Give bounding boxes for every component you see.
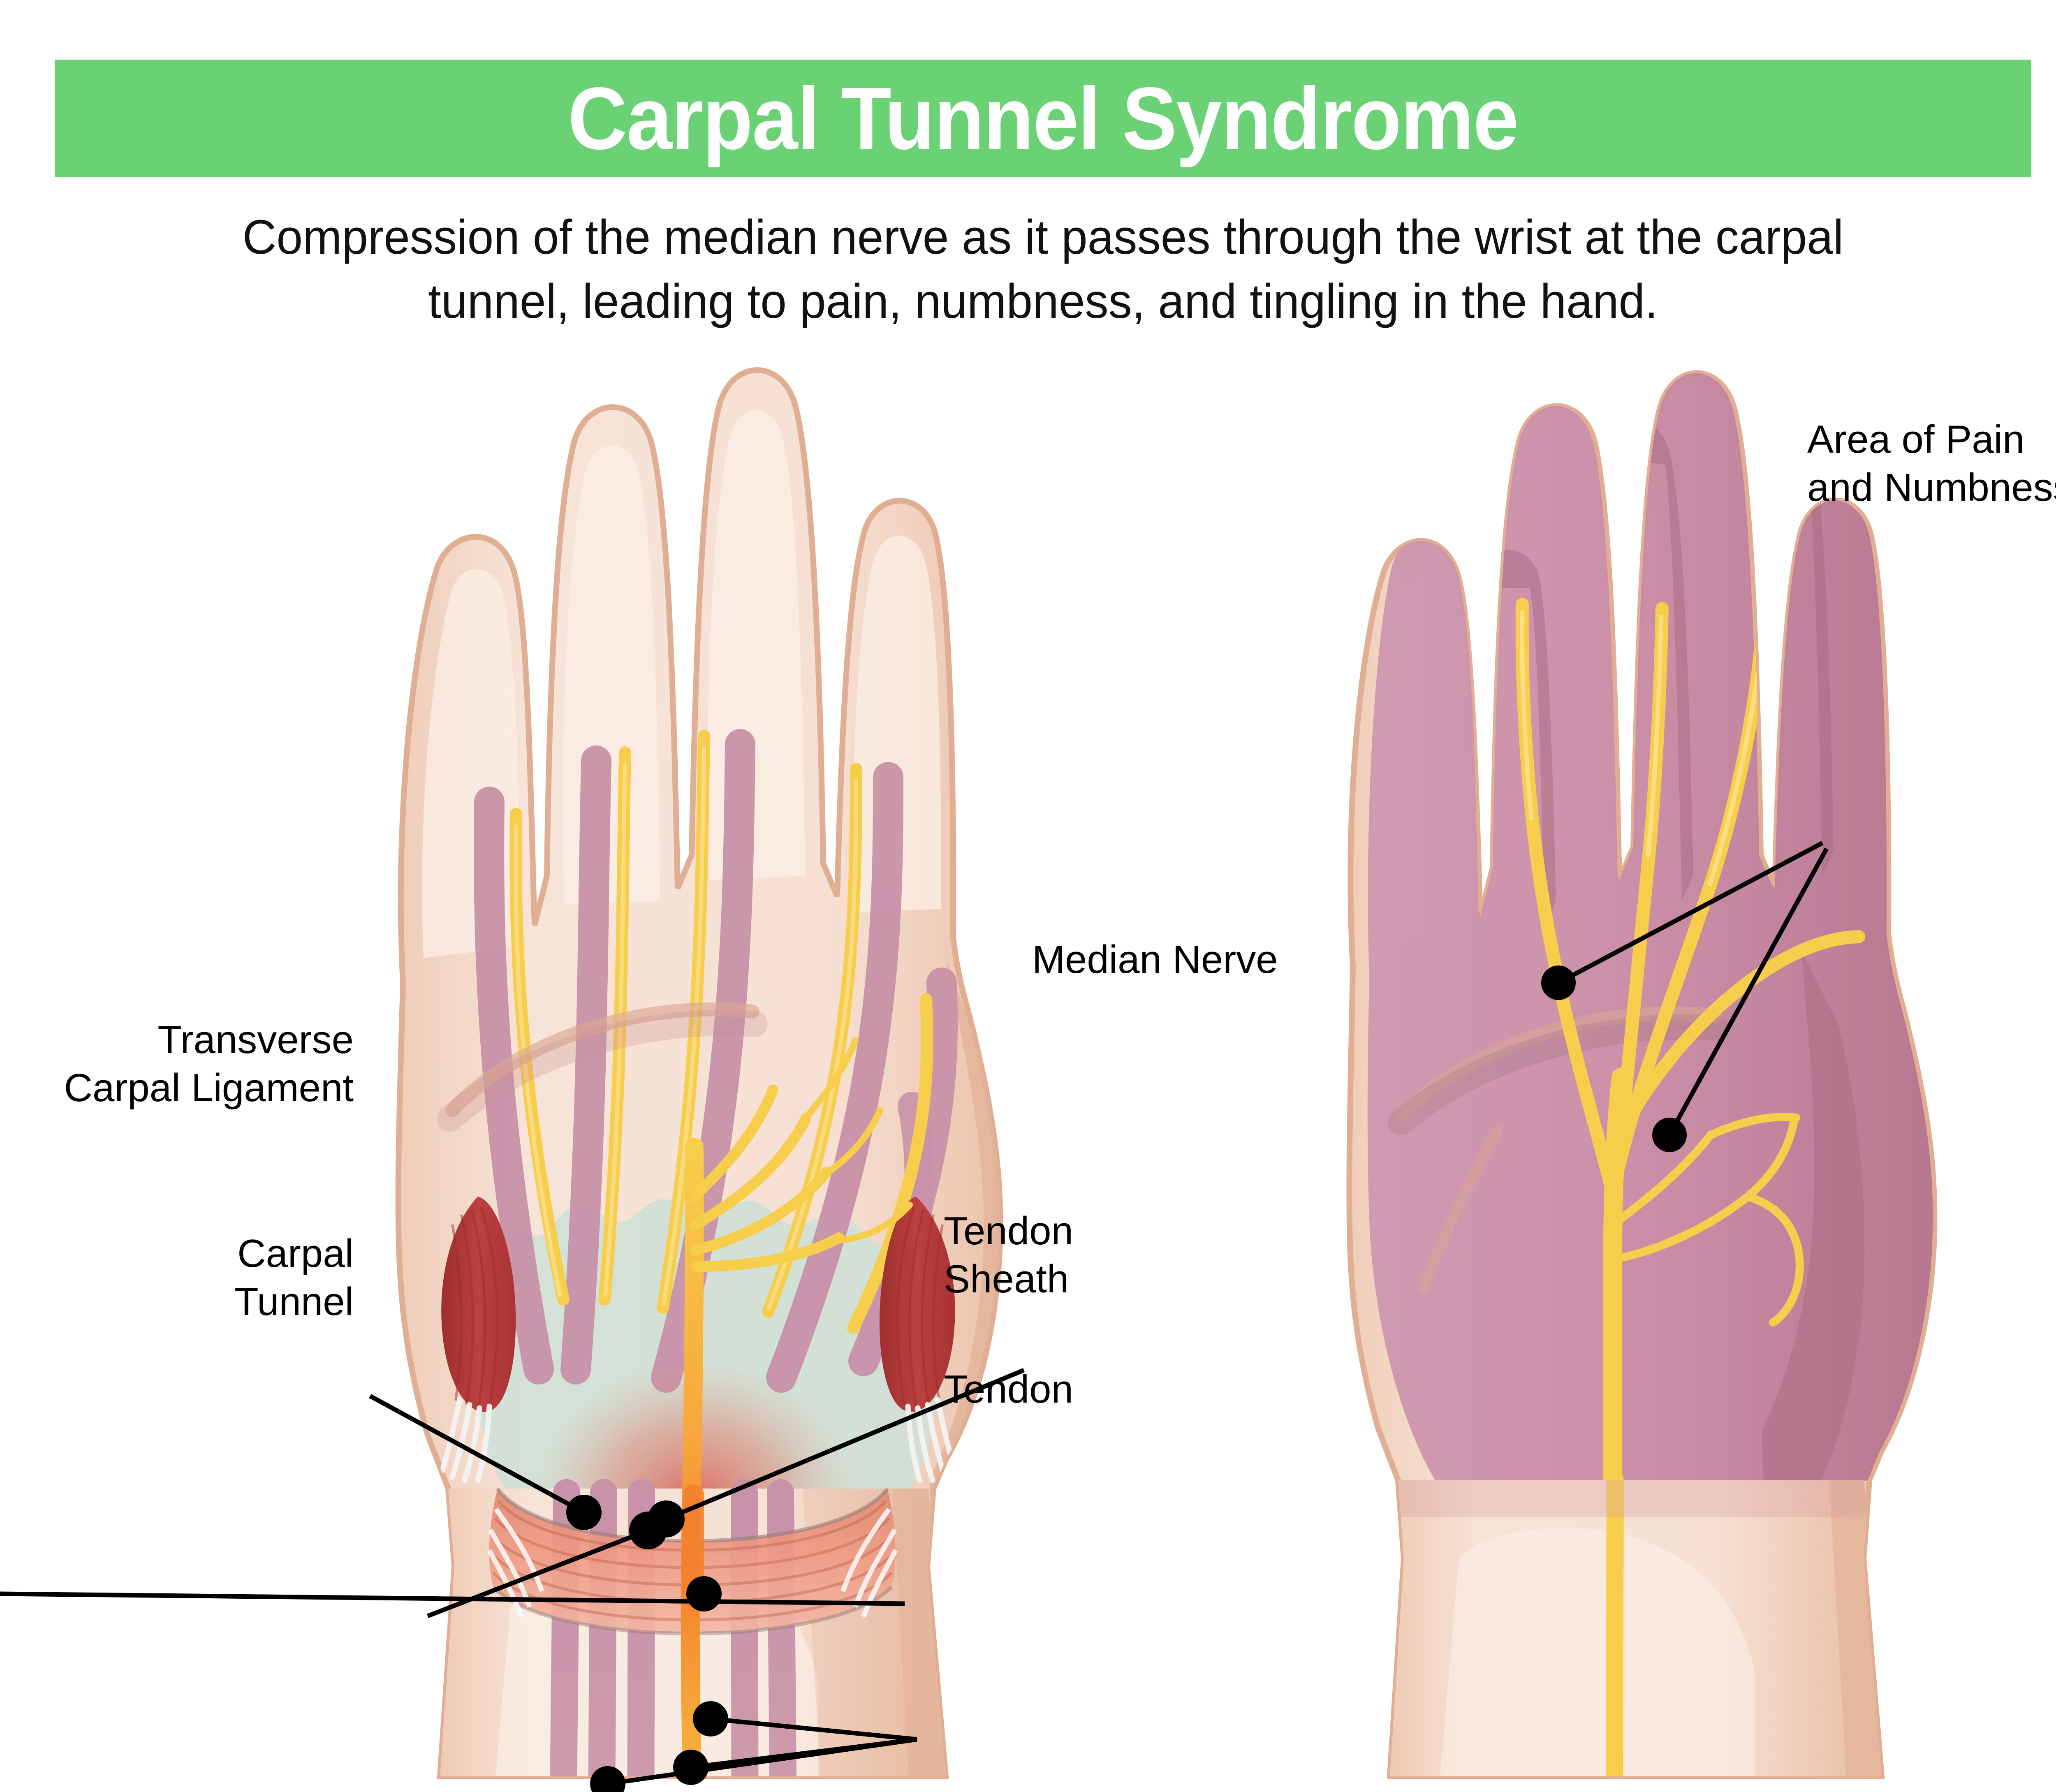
label-median-nerve: Median Nerve — [1032, 935, 1320, 984]
dot-tendon-sheath — [686, 1576, 722, 1611]
dot-pain-b — [1652, 1118, 1687, 1152]
dot-pain-a — [1541, 965, 1576, 1000]
label-tendon: Tendon — [944, 1365, 1158, 1413]
dot-median-nerve — [648, 1500, 685, 1537]
median-nerve-trunk — [690, 1147, 695, 1792]
right-hand-figure — [1349, 373, 1934, 1792]
dot-tendon-b — [673, 1750, 708, 1785]
label-transverse-carpal-ligament: Transverse Carpal Ligament — [16, 1016, 354, 1112]
dot-tendon-a — [693, 1701, 728, 1736]
right-wrist-shade — [1396, 1480, 1867, 1517]
label-area-of-pain-and-numbness: Area of Pain and Numbness — [1807, 415, 2056, 512]
subtitle-description: Compression of the median nerve as it pa… — [55, 206, 2031, 334]
page-title: Carpal Tunnel Syndrome — [568, 74, 1518, 162]
right-nerve-forearm — [1614, 1480, 1615, 1792]
dot-transverse-carpal-ligament — [566, 1495, 602, 1530]
label-carpal-tunnel: Carpal Tunnel — [82, 1229, 354, 1326]
subtitle-line-2: tunnel, leading to pain, numbness, and t… — [84, 270, 2002, 334]
subtitle-line-1: Compression of the median nerve as it pa… — [84, 206, 2002, 270]
header-banner: Carpal Tunnel Syndrome — [55, 60, 2031, 177]
label-tendon-sheath: Tendon Sheath — [944, 1207, 1199, 1303]
